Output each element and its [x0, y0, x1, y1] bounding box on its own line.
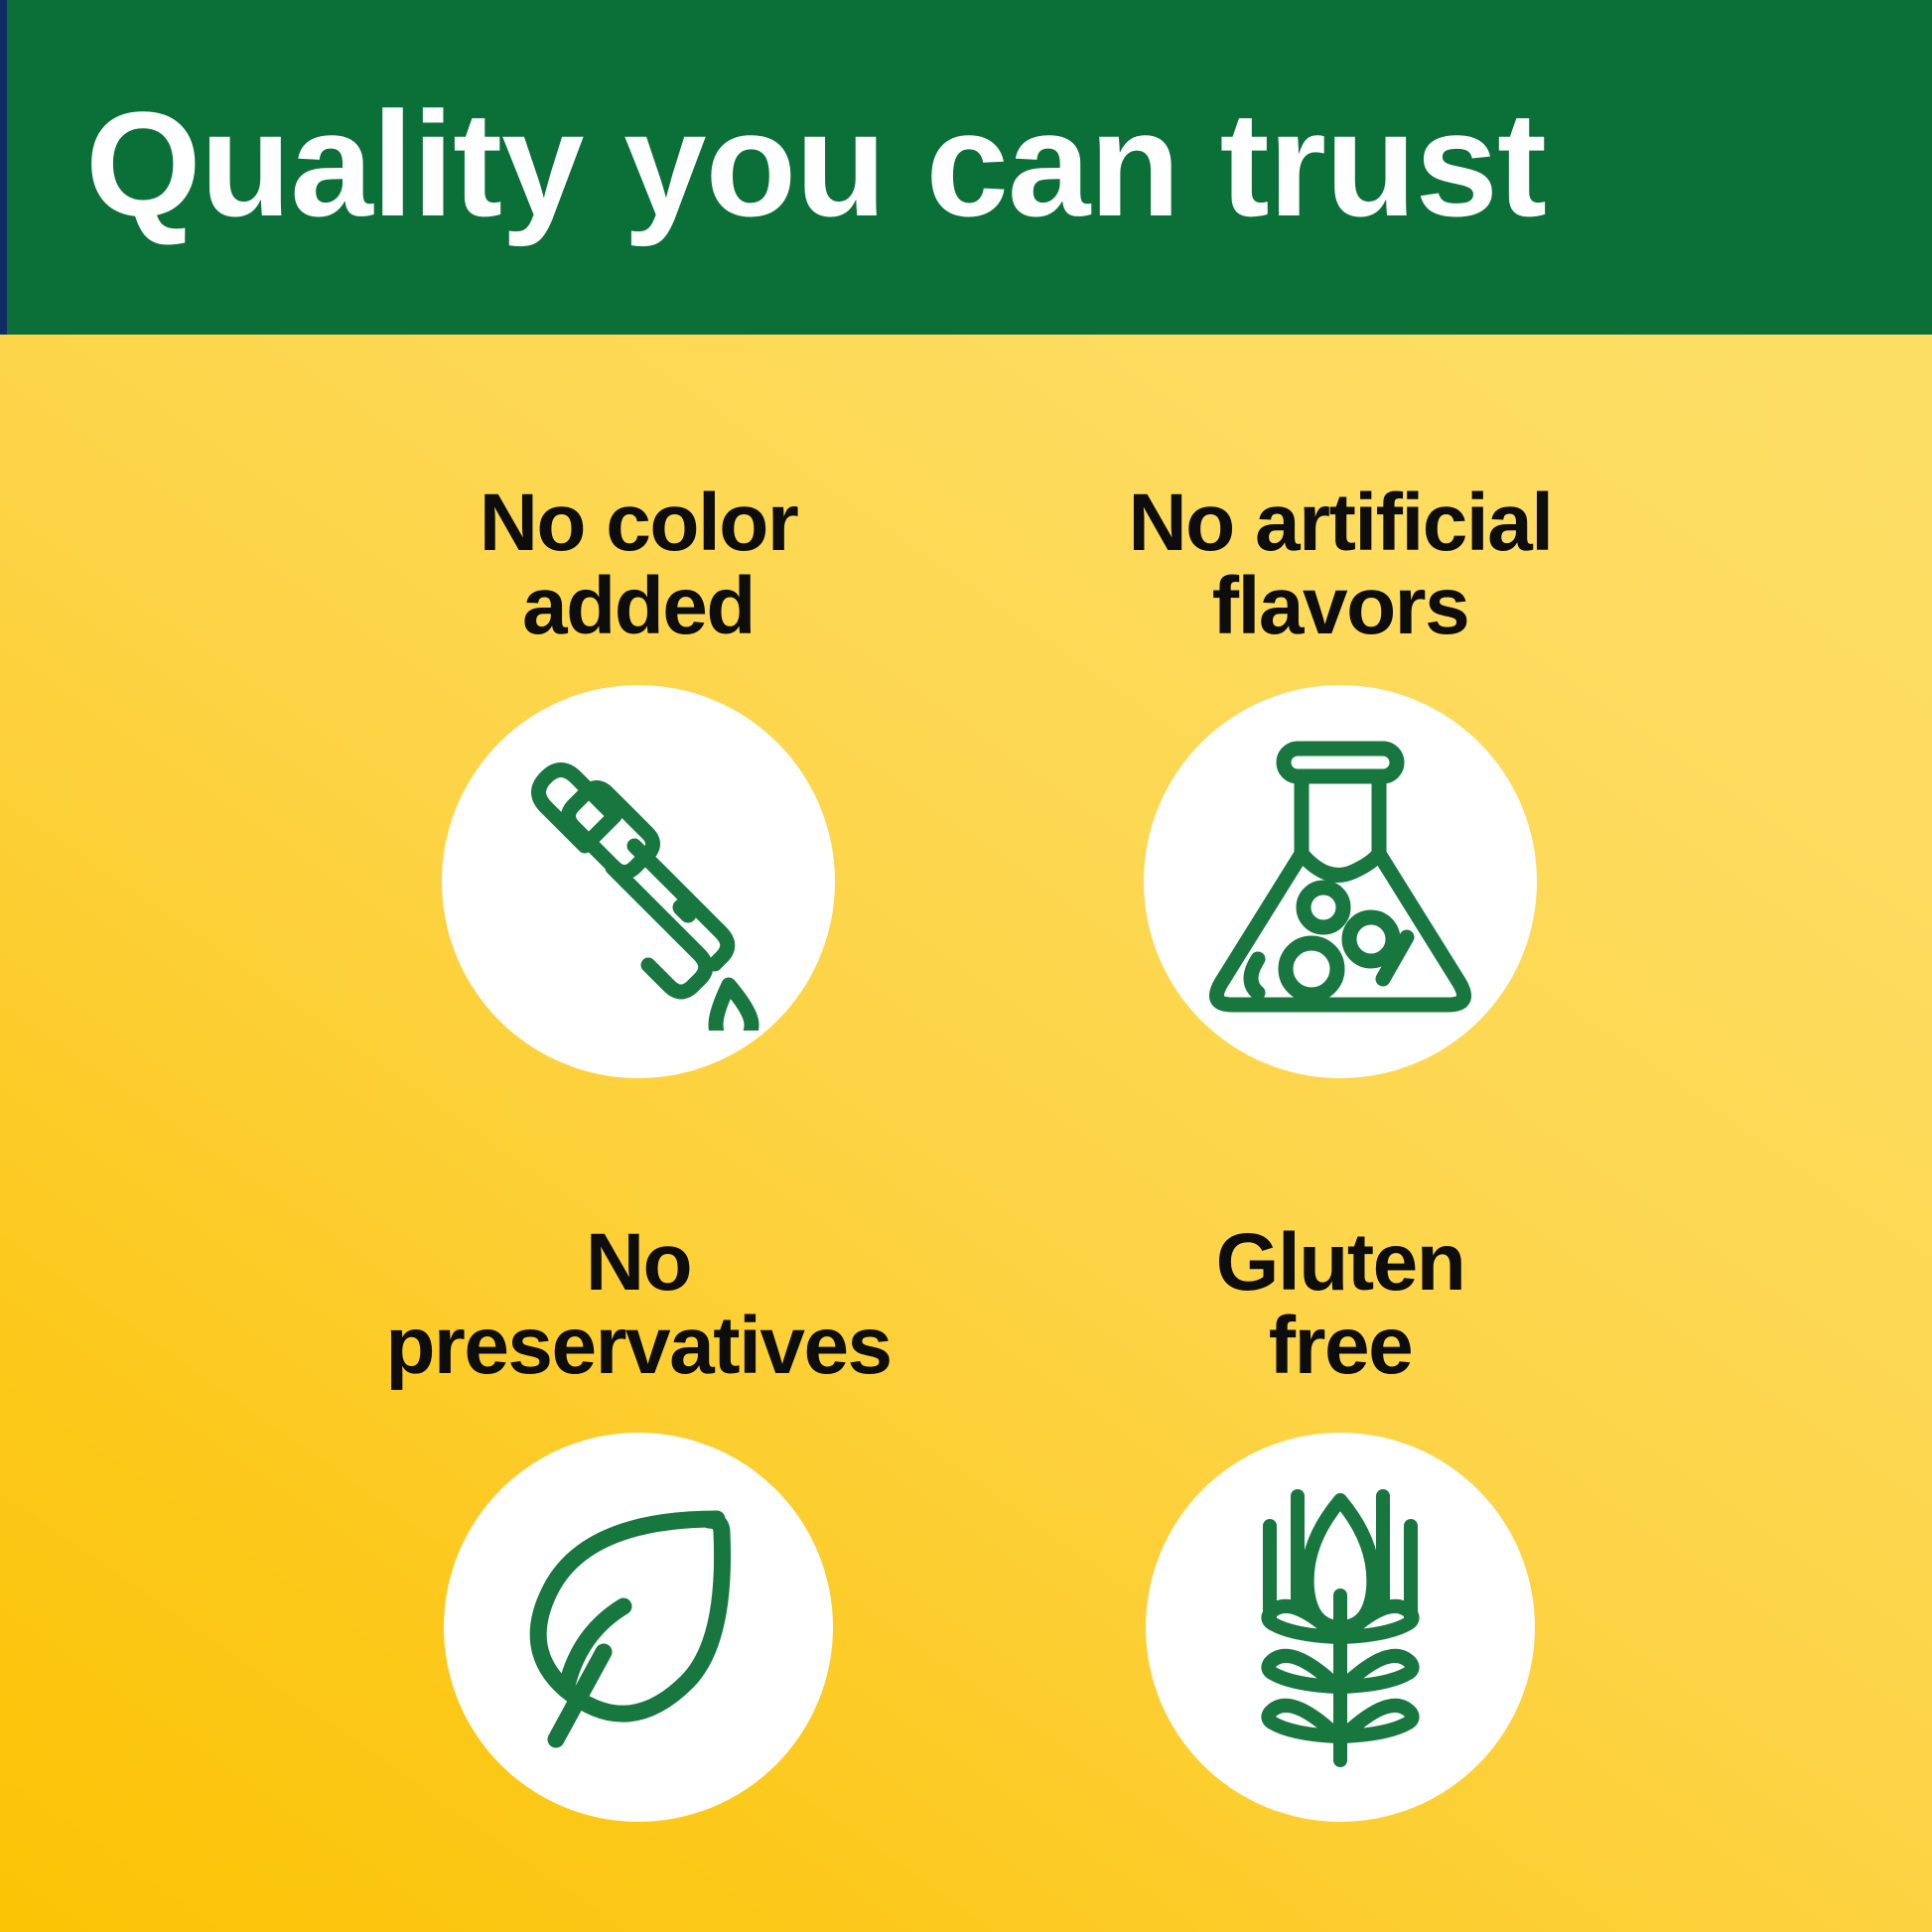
feature-label-no-preservatives: No preservatives: [385, 1221, 891, 1389]
icon-circle-flask: [1144, 685, 1537, 1078]
feature-gluten-free: Gluten free: [993, 1221, 1688, 1822]
wheat-icon: [1226, 1478, 1454, 1776]
header-banner: Quality you can trust: [0, 0, 1932, 335]
quality-you-can-trust-infographic: Quality you can trust No color added: [0, 0, 1932, 1932]
icon-circle-wheat: [1146, 1433, 1535, 1822]
feature-no-preservatives: No preservatives: [291, 1221, 986, 1822]
icon-circle-dropper: [442, 685, 835, 1078]
feature-no-artificial-flavors: No artificial flavors: [993, 482, 1688, 1078]
dropper-icon: [489, 733, 787, 1031]
page-title: Quality you can trust: [85, 89, 1546, 238]
feature-no-color-added: No color added: [291, 482, 986, 1078]
feature-label-no-artificial-flavors: No artificial flavors: [1128, 482, 1552, 649]
icon-circle-leaf: [444, 1433, 833, 1822]
feature-label-gluten-free: Gluten free: [1216, 1221, 1465, 1389]
feature-grid: No color added: [0, 335, 1932, 1932]
leaf-icon: [504, 1493, 772, 1761]
feature-label-no-color-added: No color added: [480, 482, 798, 649]
header-accent-stripe: [0, 0, 7, 335]
flask-icon: [1196, 733, 1484, 1031]
